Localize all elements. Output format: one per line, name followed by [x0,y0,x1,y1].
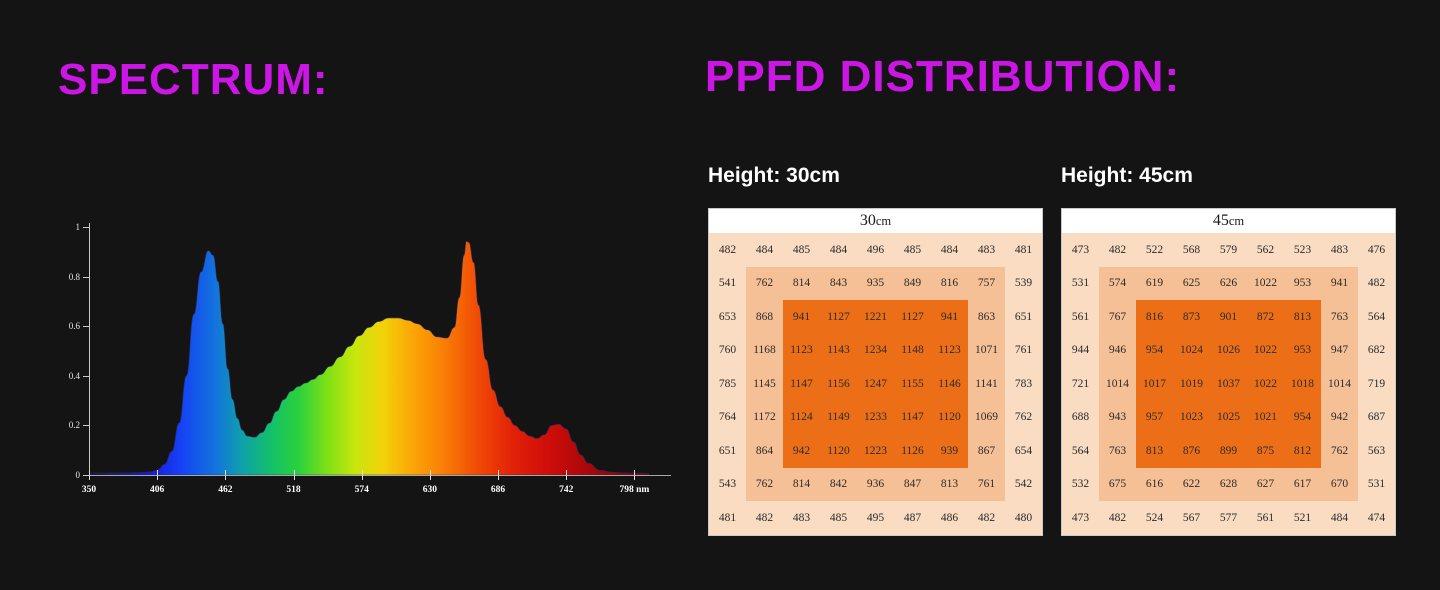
ppfd-cell: 946 [1099,334,1136,368]
ppfd-cell: 1022 [1247,367,1284,401]
ppfd-cell: 476 [1358,233,1395,267]
x-tick-label: 518 [286,485,300,495]
y-tick-label: 1 [58,222,80,232]
ppfd-cell: 1023 [1173,401,1210,435]
ppfd-cell: 1233 [857,401,894,435]
ppfd-cell: 564 [1062,434,1099,468]
ppfd-cell: 482 [746,501,783,535]
ppfd-cell: 561 [1062,300,1099,334]
ppfd-cell: 682 [1358,334,1395,368]
ppfd-cell: 564 [1358,300,1395,334]
x-tick-label: 406 [150,485,164,495]
ppfd-cell: 762 [746,468,783,502]
ppfd-cell: 1156 [820,367,857,401]
x-tick-label: 574 [355,485,369,495]
ppfd-cell: 816 [931,267,968,301]
ppfd-cell: 939 [931,434,968,468]
y-tick [83,376,90,377]
ppfd-cell: 954 [1136,334,1173,368]
ppfd-cell: 875 [1247,434,1284,468]
ppfd-cell: 653 [709,300,746,334]
x-tick-label: 630 [423,485,437,495]
ppfd-cell: 761 [968,468,1005,502]
y-tick-label: 0.2 [58,420,80,430]
ppfd-cell: 873 [1173,300,1210,334]
ppfd-cell: 1221 [857,300,894,334]
ppfd-heading: PPFD DISTRIBUTION: [705,52,1180,102]
ppfd-cell: 484 [931,233,968,267]
ppfd-cell: 675 [1099,468,1136,502]
y-tick [83,227,90,228]
x-tick [157,470,158,480]
ppfd-cell: 485 [783,233,820,267]
ppfd-cell: 954 [1284,401,1321,435]
ppfd-cell: 485 [820,501,857,535]
y-tick-label: 0.4 [58,371,80,381]
ppfd-cell: 760 [709,334,746,368]
ppfd-cell: 481 [709,501,746,535]
ppfd-cell: 1022 [1247,267,1284,301]
ppfd-cell: 670 [1321,468,1358,502]
ppfd-cell: 762 [1005,401,1042,435]
y-tick [83,326,90,327]
ppfd-cell: 1120 [931,401,968,435]
ppfd-cell: 482 [1099,501,1136,535]
ppfd-cell: 1123 [783,334,820,368]
ppfd-cell: 849 [894,267,931,301]
ppfd-cell: 577 [1210,501,1247,535]
ppfd-cell: 1025 [1210,401,1247,435]
x-tick-label: 742 [559,485,573,495]
ppfd-cell: 901 [1210,300,1247,334]
ppfd-grid-45cm: 4734825225685795625234834765315746196256… [1062,233,1395,535]
ppfd-cell: 687 [1358,401,1395,435]
ppfd-cell: 1018 [1284,367,1321,401]
ppfd-cell: 1143 [820,334,857,368]
ppfd-cell: 485 [894,233,931,267]
ppfd-cell: 1147 [894,401,931,435]
ppfd-cell: 1021 [1247,401,1284,435]
x-tick-label: 462 [218,485,232,495]
ppfd-cell: 482 [1099,233,1136,267]
x-tick [294,470,295,480]
ppfd-cell: 539 [1005,267,1042,301]
ppfd-table-30cm: 30cm 48248448548449648548448348154176281… [708,208,1043,536]
ppfd-table-caption-30cm: 30cm [709,209,1042,233]
ppfd-cell: 1014 [1099,367,1136,401]
ppfd-cell: 579 [1210,233,1247,267]
ppfd-cell: 899 [1210,434,1247,468]
caption-unit-45cm: cm [1229,214,1244,228]
ppfd-cell: 1126 [894,434,931,468]
ppfd-cell: 474 [1358,501,1395,535]
x-tick [89,470,90,480]
ppfd-cell: 812 [1284,434,1321,468]
ppfd-cell: 523 [1284,233,1321,267]
ppfd-cell: 1149 [820,401,857,435]
ppfd-cell: 1172 [746,401,783,435]
ppfd-cell: 719 [1358,367,1395,401]
ppfd-cell: 953 [1284,267,1321,301]
ppfd-cell: 484 [1321,501,1358,535]
ppfd-cell: 482 [968,501,1005,535]
ppfd-cell: 763 [1099,434,1136,468]
ppfd-cell: 617 [1284,468,1321,502]
caption-value-45cm: 45 [1213,212,1229,229]
ppfd-cell: 814 [783,468,820,502]
ppfd-cell: 654 [1005,434,1042,468]
y-tick-label: 0.8 [58,272,80,282]
x-tick [566,470,567,480]
ppfd-cell: 764 [709,401,746,435]
ppfd-table-45cm: 45cm 47348252256857956252348347653157461… [1061,208,1396,536]
ppfd-cell: 486 [931,501,968,535]
ppfd-cell: 482 [1358,267,1395,301]
ppfd-cell: 864 [746,434,783,468]
ppfd-cell: 622 [1173,468,1210,502]
ppfd-cell: 1141 [968,367,1005,401]
ppfd-cell: 1147 [783,367,820,401]
y-tick [83,425,90,426]
x-tick-label: 350 [82,485,96,495]
ppfd-cell: 1168 [746,334,783,368]
height-label-30cm: Height: 30cm [708,164,840,188]
ppfd-cell: 531 [1358,468,1395,502]
caption-unit-30cm: cm [876,214,891,228]
ppfd-cell: 842 [820,468,857,502]
ppfd-cell: 942 [1321,401,1358,435]
ppfd-cell: 868 [746,300,783,334]
ppfd-cell: 524 [1136,501,1173,535]
y-tick-label: 0 [58,470,80,480]
spectrum-curve [89,223,649,475]
ppfd-cell: 482 [709,233,746,267]
ppfd-cell: 843 [820,267,857,301]
ppfd-cell: 541 [709,267,746,301]
ppfd-cell: 957 [1136,401,1173,435]
x-tick [498,470,499,480]
ppfd-cell: 480 [1005,501,1042,535]
ppfd-cell: 688 [1062,401,1099,435]
x-tick [362,470,363,480]
x-tick [430,470,431,480]
x-tick [225,470,226,480]
ppfd-cell: 762 [1321,434,1358,468]
ppfd-cell: 628 [1210,468,1247,502]
ppfd-cell: 542 [1005,468,1042,502]
ppfd-cell: 1022 [1247,334,1284,368]
ppfd-cell: 543 [709,468,746,502]
ppfd-cell: 616 [1136,468,1173,502]
ppfd-cell: 473 [1062,233,1099,267]
ppfd-cell: 1014 [1321,367,1358,401]
ppfd-cell: 872 [1247,300,1284,334]
ppfd-cell: 522 [1136,233,1173,267]
ppfd-cell: 1146 [931,367,968,401]
ppfd-cell: 1026 [1210,334,1247,368]
ppfd-cell: 561 [1247,501,1284,535]
ppfd-cell: 473 [1062,501,1099,535]
ppfd-cell: 867 [968,434,1005,468]
ppfd-cell: 483 [1321,233,1358,267]
ppfd-cell: 757 [968,267,1005,301]
ppfd-cell: 651 [709,434,746,468]
ppfd-cell: 814 [783,267,820,301]
ppfd-cell: 626 [1210,267,1247,301]
ppfd-cell: 1148 [894,334,931,368]
ppfd-cell: 935 [857,267,894,301]
ppfd-cell: 567 [1173,501,1210,535]
ppfd-cell: 813 [931,468,968,502]
ppfd-cell: 876 [1173,434,1210,468]
ppfd-cell: 816 [1136,300,1173,334]
spectrum-heading: SPECTRUM: [58,55,329,105]
ppfd-cell: 813 [1136,434,1173,468]
ppfd-cell: 1019 [1173,367,1210,401]
ppfd-cell: 1127 [894,300,931,334]
x-tick [634,470,635,480]
ppfd-cell: 627 [1247,468,1284,502]
ppfd-grid-30cm: 4824844854844964854844834815417628148439… [709,233,1042,535]
ppfd-cell: 563 [1358,434,1395,468]
ppfd-cell: 1123 [931,334,968,368]
ppfd-cell: 813 [1284,300,1321,334]
ppfd-cell: 785 [709,367,746,401]
spectrum-chart: 00.20.40.60.8135040646251857463068674279… [58,215,658,500]
ppfd-cell: 562 [1247,233,1284,267]
ppfd-cell: 953 [1284,334,1321,368]
ppfd-cell: 1017 [1136,367,1173,401]
ppfd-cell: 941 [783,300,820,334]
ppfd-cell: 1234 [857,334,894,368]
ppfd-cell: 1124 [783,401,820,435]
y-tick-label: 0.6 [58,321,80,331]
ppfd-cell: 1120 [820,434,857,468]
ppfd-cell: 574 [1099,267,1136,301]
height-label-45cm: Height: 45cm [1061,164,1193,188]
ppfd-cell: 1024 [1173,334,1210,368]
ppfd-cell: 863 [968,300,1005,334]
ppfd-cell: 483 [968,233,1005,267]
ppfd-cell: 763 [1321,300,1358,334]
ppfd-cell: 847 [894,468,931,502]
ppfd-cell: 532 [1062,468,1099,502]
ppfd-cell: 767 [1099,300,1136,334]
ppfd-cell: 625 [1173,267,1210,301]
ppfd-cell: 487 [894,501,931,535]
ppfd-cell: 484 [820,233,857,267]
ppfd-cell: 783 [1005,367,1042,401]
ppfd-cell: 941 [931,300,968,334]
x-tick-label: 686 [491,485,505,495]
x-axis [89,475,671,476]
ppfd-cell: 483 [783,501,820,535]
ppfd-cell: 1145 [746,367,783,401]
ppfd-cell: 496 [857,233,894,267]
ppfd-cell: 531 [1062,267,1099,301]
caption-value-30cm: 30 [860,212,876,229]
ppfd-cell: 936 [857,468,894,502]
ppfd-cell: 619 [1136,267,1173,301]
ppfd-cell: 481 [1005,233,1042,267]
ppfd-cell: 942 [783,434,820,468]
x-tick-label: 798 nm [619,485,649,495]
ppfd-cell: 1247 [857,367,894,401]
ppfd-table-caption-45cm: 45cm [1062,209,1395,233]
ppfd-cell: 495 [857,501,894,535]
ppfd-cell: 1037 [1210,367,1247,401]
y-tick [83,277,90,278]
ppfd-cell: 761 [1005,334,1042,368]
ppfd-cell: 1127 [820,300,857,334]
ppfd-cell: 1069 [968,401,1005,435]
ppfd-cell: 947 [1321,334,1358,368]
ppfd-cell: 721 [1062,367,1099,401]
ppfd-cell: 521 [1284,501,1321,535]
ppfd-cell: 944 [1062,334,1099,368]
ppfd-cell: 1223 [857,434,894,468]
ppfd-cell: 762 [746,267,783,301]
ppfd-cell: 1155 [894,367,931,401]
ppfd-cell: 651 [1005,300,1042,334]
ppfd-cell: 943 [1099,401,1136,435]
ppfd-cell: 568 [1173,233,1210,267]
ppfd-cell: 1071 [968,334,1005,368]
ppfd-cell: 484 [746,233,783,267]
ppfd-cell: 941 [1321,267,1358,301]
